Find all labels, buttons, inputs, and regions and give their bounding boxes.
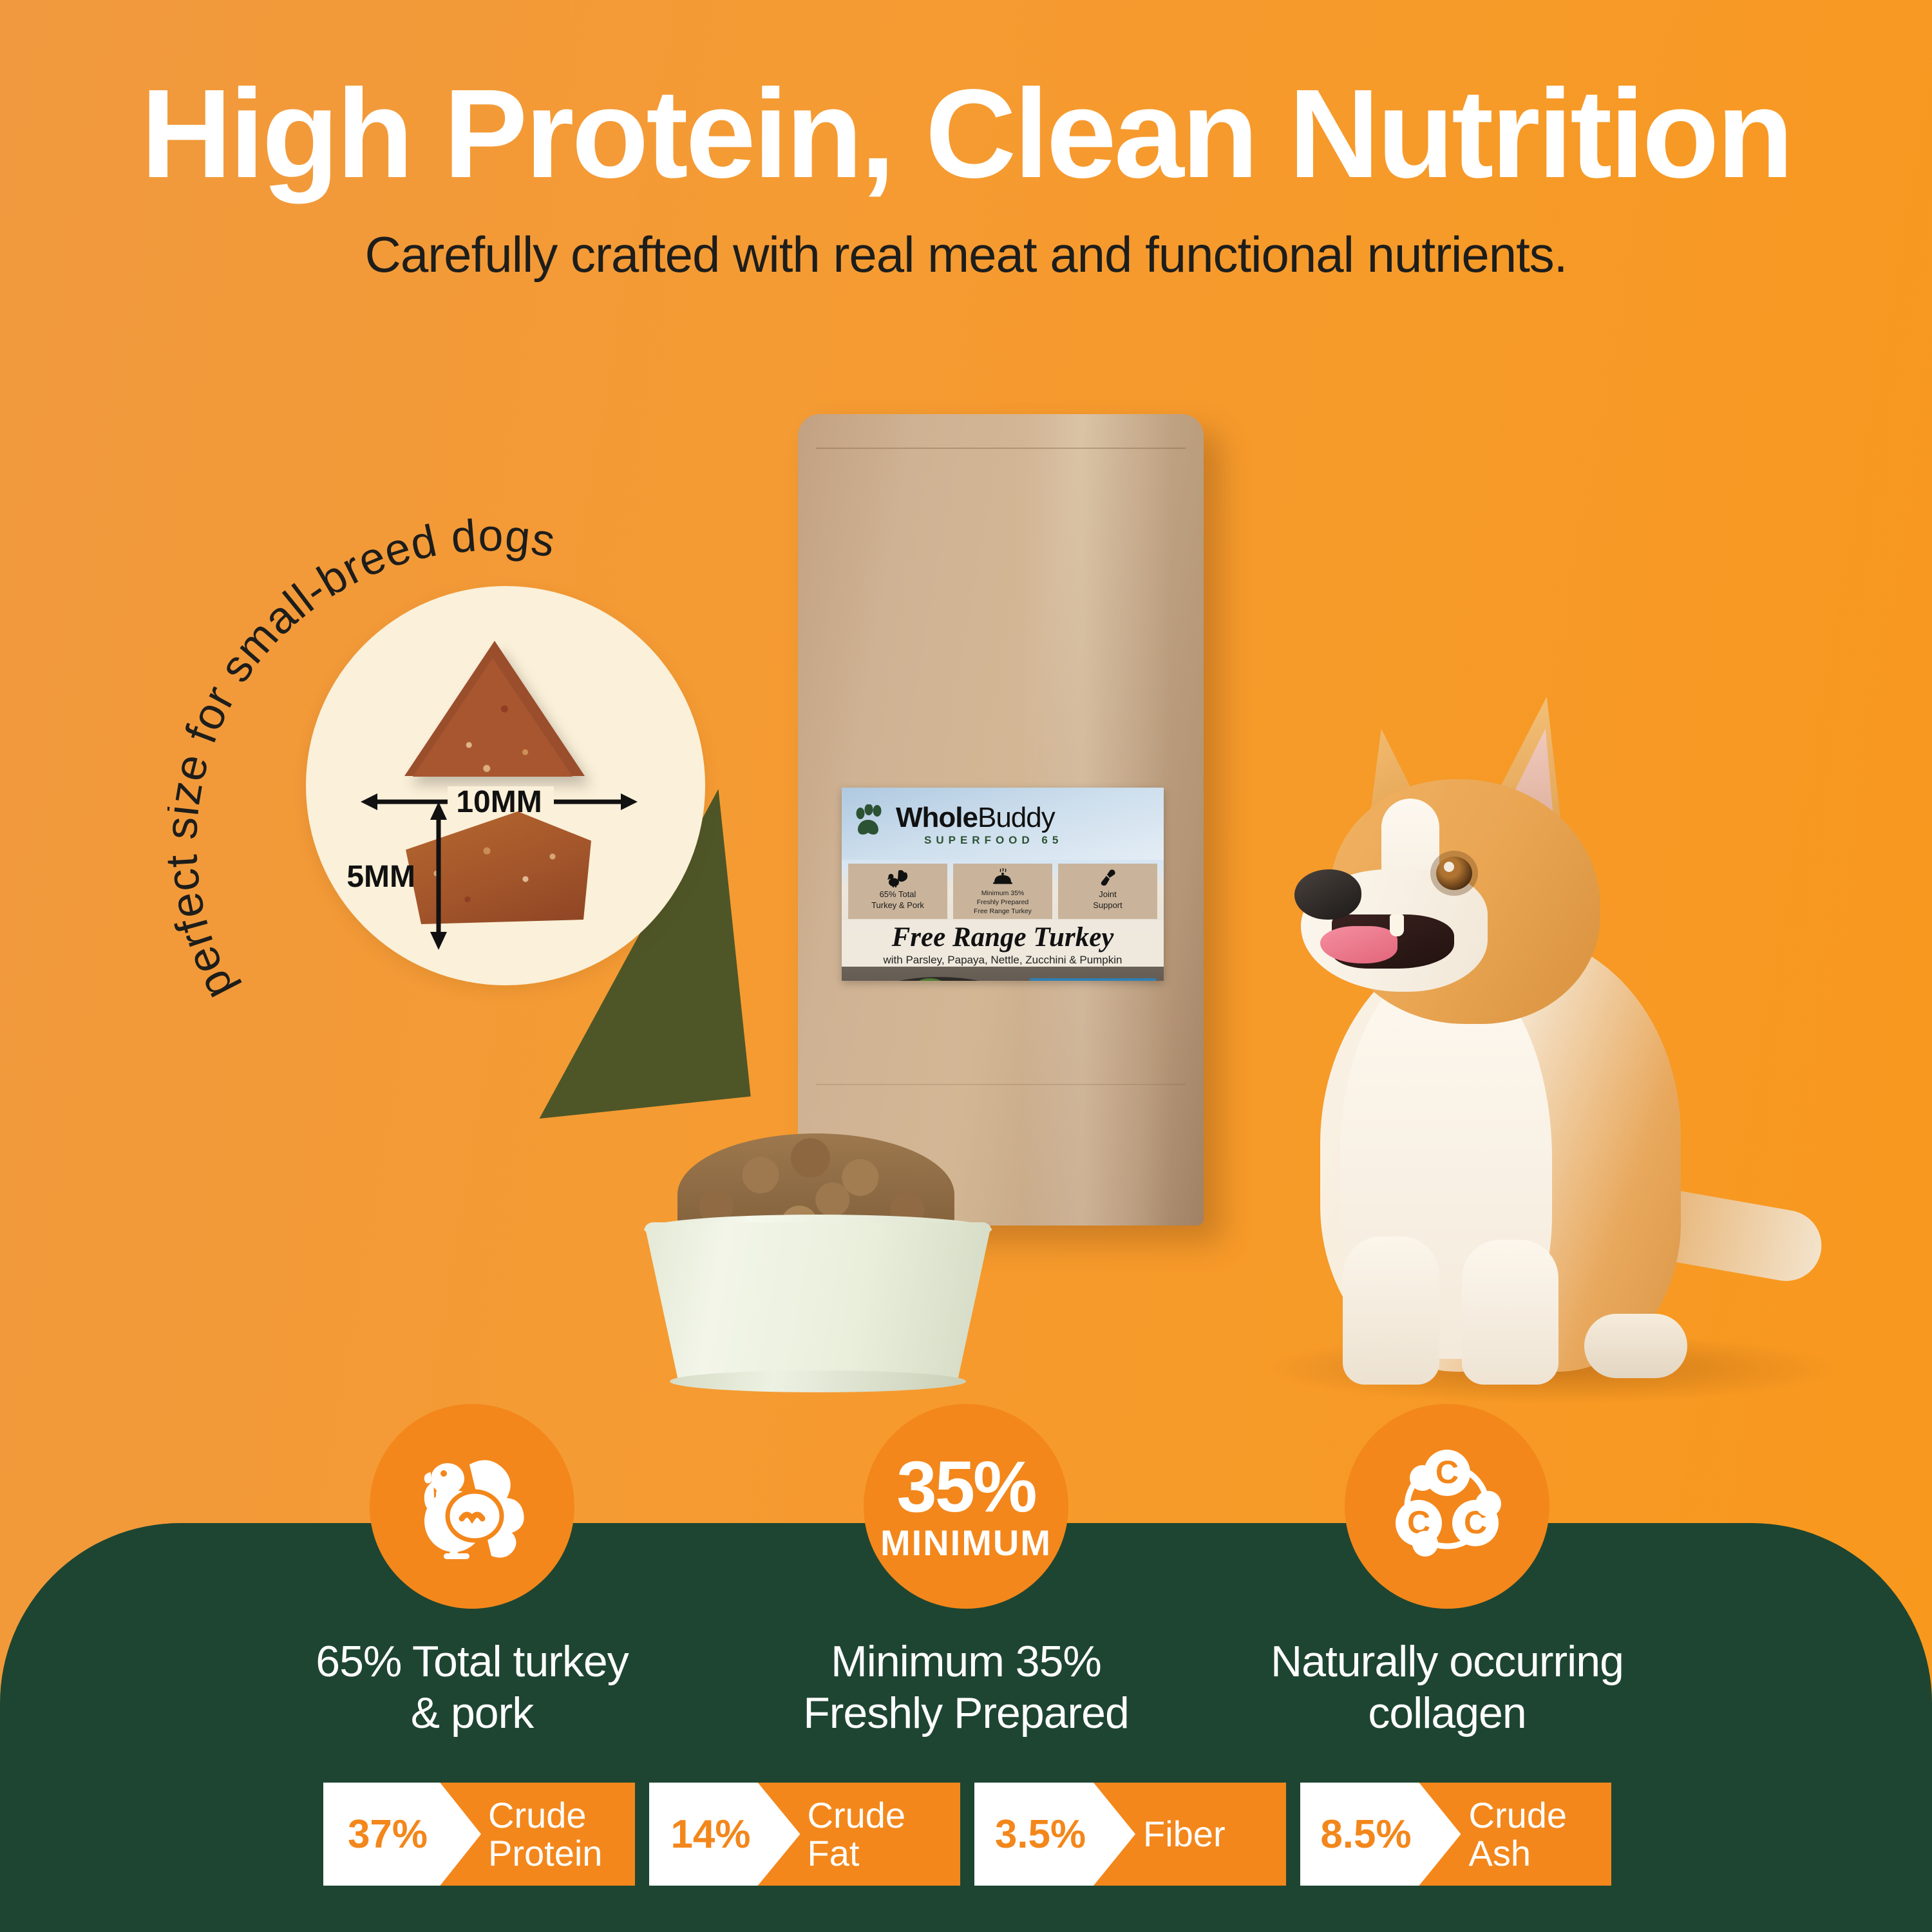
stat-3-value: 3.5%	[974, 1783, 1106, 1886]
dog-eye	[1436, 857, 1472, 890]
dog-tooth	[1390, 914, 1404, 936]
analytical-constituents-bar: 37% Crude Protein 14% Crude Fat 3.5%	[323, 1783, 1611, 1886]
stat-1-label: Crude Protein	[488, 1783, 602, 1886]
feature-label-row: 65% Total turkey & pork Minimum 35% Fres…	[0, 1636, 1932, 1777]
stat-4-label-line2: Ash	[1469, 1834, 1567, 1872]
feature-label-turkey-pork: 65% Total turkey & pork	[234, 1636, 710, 1739]
dog-front-leg-left	[1343, 1236, 1439, 1385]
bone-joint-icon	[1098, 868, 1117, 887]
feature-label-collagen: Naturally occurring collagen	[1209, 1636, 1685, 1739]
stat-4-value: 8.5%	[1300, 1783, 1432, 1886]
page-headline: High Protein, Clean Nutrition	[0, 70, 1932, 198]
stat-2-label-line2: Fat	[808, 1834, 906, 1872]
product-label: WholeBuddy SUPERFOOD 65	[842, 788, 1164, 981]
dog-front-leg-right	[1462, 1240, 1558, 1385]
stat-2-label: Crude Fat	[808, 1783, 906, 1886]
tile-icon-wrap	[887, 867, 909, 889]
stat-crude-ash: 8.5% Crude Ash	[1300, 1783, 1612, 1886]
stat-crude-protein: 37% Crude Protein	[323, 1783, 635, 1886]
tile-fresh-line3: Free Range Turkey	[974, 908, 1032, 916]
page-subheadline: Carefully crafted with real meat and fun…	[0, 225, 1932, 284]
label-tile-turkey: 65% Total Turkey & Pork	[848, 864, 947, 919]
tile-joint-line1: Joint	[1099, 890, 1116, 900]
cloche-icon	[992, 868, 1014, 887]
brand-wordmark: WholeBuddy	[896, 802, 1055, 834]
label-feature-tiles: 65% Total Turkey & Pork	[848, 864, 1157, 919]
feature-2-line2: Freshly Prepared	[728, 1687, 1204, 1739]
badge-turkey	[370, 1404, 574, 1609]
stat-4-label: Crude Ash	[1469, 1783, 1567, 1886]
product-bag: WholeBuddy SUPERFOOD 65	[798, 414, 1204, 1226]
tile-fresh-line1: Minimum 35%	[981, 890, 1025, 898]
tile-turkey-line2: Turkey & Pork	[871, 901, 924, 911]
dog-eye-highlight	[1444, 862, 1454, 872]
brand-name-first: Whole	[896, 802, 978, 833]
paw-logo-icon	[855, 804, 891, 838]
dog-rear-paw	[1584, 1314, 1687, 1378]
dog-nose	[1294, 869, 1361, 920]
tile-icon-wrap	[1098, 867, 1117, 889]
tile-icon-wrap	[992, 867, 1014, 889]
stat-2-label-line1: Crude	[808, 1796, 906, 1834]
svg-text:C: C	[1435, 1454, 1459, 1490]
stat-3-label: Fiber	[1143, 1783, 1226, 1886]
infographic-canvas: High Protein, Clean Nutrition Carefully …	[0, 0, 1932, 1932]
label-tile-joint-support: Joint Support	[1058, 864, 1157, 919]
stat-1-value: 37%	[323, 1783, 452, 1886]
tile-turkey-line1: 65% Total	[880, 890, 916, 900]
label-tile-freshly-prepared: Minimum 35% Freshly Prepared Free Range …	[953, 864, 1052, 919]
label-small-breed-flag: Small Breed Adult Dog	[1030, 978, 1156, 981]
bowl-base	[670, 1370, 966, 1392]
turkey-icon	[408, 1445, 536, 1567]
feature-1-line2: & pork	[234, 1687, 710, 1739]
feature-1-line1: 65% Total turkey	[234, 1636, 710, 1687]
badge-35-percent: 35%	[880, 1454, 1052, 1520]
feature-2-line1: Minimum 35%	[728, 1636, 1204, 1687]
collagen-molecule-icon: C C C	[1383, 1442, 1511, 1571]
badge-35-minimum: MINIMUM	[880, 1526, 1052, 1560]
kibble-height-dimension: 5MM	[312, 802, 473, 950]
tile-joint-line2: Support	[1093, 901, 1122, 911]
badge-35-text: 35% MINIMUM	[880, 1454, 1052, 1560]
label-flavour-name: Free Range Turkey	[842, 922, 1164, 953]
badge-minimum-35: 35% MINIMUM	[864, 1404, 1068, 1609]
stat-3-label-line1: Fiber	[1143, 1815, 1226, 1853]
stat-1-label-line2: Protein	[488, 1834, 602, 1872]
corgi-dog-photo	[1224, 657, 1874, 1417]
tile-fresh-line2: Freshly Prepared	[977, 899, 1029, 907]
stat-crude-fat: 14% Crude Fat	[649, 1783, 961, 1886]
feature-3-line1: Naturally occurring	[1209, 1636, 1685, 1687]
label-flavour-ingredients: with Parsley, Papaya, Nettle, Zucchini &…	[842, 954, 1164, 967]
feature-label-freshly-prepared: Minimum 35% Freshly Prepared	[728, 1636, 1204, 1739]
stat-fiber: 3.5% Fiber	[974, 1783, 1286, 1886]
kibble-height-label: 5MM	[346, 860, 415, 894]
turkey-icon	[887, 868, 909, 887]
brand-tagline: SUPERFOOD 65	[924, 834, 1063, 847]
bag-bottom-seam	[816, 1084, 1186, 1085]
kibble-size-callout: perfect size for small-breed dogs 10MM 5…	[193, 509, 799, 1108]
bowl-body	[644, 1222, 992, 1383]
bag-top-seam	[816, 448, 1186, 449]
dog-bowl-with-kibble	[618, 1133, 1018, 1391]
brand-name-second: Buddy	[978, 802, 1055, 833]
stat-2-value: 14%	[649, 1783, 773, 1886]
stat-1-label-line1: Crude	[488, 1796, 602, 1834]
stat-4-label-line1: Crude	[1469, 1796, 1567, 1834]
badge-collagen: C C C	[1345, 1404, 1549, 1609]
feature-3-line2: collagen	[1209, 1687, 1685, 1739]
